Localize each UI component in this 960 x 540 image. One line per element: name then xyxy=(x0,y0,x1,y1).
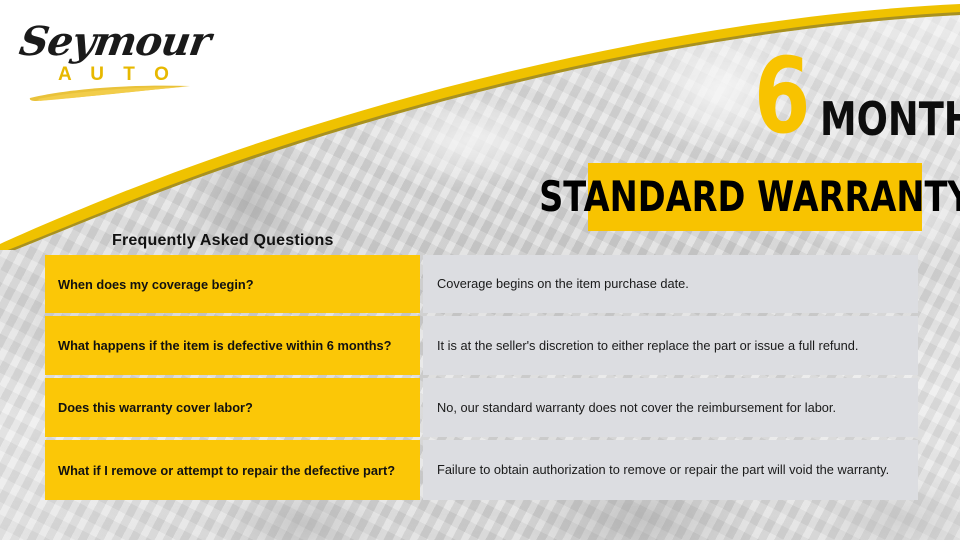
warranty-duration-block: 6 MONTH xyxy=(588,52,924,160)
logo-swoosh-icon xyxy=(12,68,197,102)
faq-answer-text: Failure to obtain authorization to remov… xyxy=(437,461,889,479)
faq-question-cell: What if I remove or attempt to repair th… xyxy=(45,440,420,500)
standard-warranty-text: STANDARD WARRANTY xyxy=(539,176,960,218)
table-row: What if I remove or attempt to repair th… xyxy=(45,440,918,500)
logo-script-text: Seymour xyxy=(16,18,213,65)
seymour-auto-logo: Seymour A U T O xyxy=(12,12,197,104)
faq-question-text: What if I remove or attempt to repair th… xyxy=(58,462,395,479)
warranty-months-number: 6 xyxy=(754,44,809,148)
faq-answer-text: Coverage begins on the item purchase dat… xyxy=(437,275,689,293)
faq-answer-cell: No, our standard warranty does not cover… xyxy=(423,378,918,437)
faq-answer-cell: Coverage begins on the item purchase dat… xyxy=(423,255,918,313)
faq-heading: Frequently Asked Questions xyxy=(112,232,334,250)
faq-question-cell: Does this warranty cover labor? xyxy=(45,378,420,437)
faq-answer-text: No, our standard warranty does not cover… xyxy=(437,399,836,417)
faq-table: When does my coverage begin? Coverage be… xyxy=(45,255,918,500)
faq-answer-cell: It is at the seller's discretion to eith… xyxy=(423,316,918,375)
faq-answer-cell: Failure to obtain authorization to remov… xyxy=(423,440,918,500)
faq-question-cell: When does my coverage begin? xyxy=(45,255,420,313)
standard-warranty-banner: STANDARD WARRANTY xyxy=(588,163,922,231)
table-row: Does this warranty cover labor? No, our … xyxy=(45,378,918,437)
faq-answer-text: It is at the seller's discretion to eith… xyxy=(437,337,858,355)
table-row: What happens if the item is defective wi… xyxy=(45,316,918,375)
warranty-months-label: MONTH xyxy=(820,96,960,142)
faq-question-text: What happens if the item is defective wi… xyxy=(58,337,391,354)
faq-question-cell: What happens if the item is defective wi… xyxy=(45,316,420,375)
slide-canvas: Seymour A U T O 6 MONTH STANDARD WARRANT… xyxy=(0,0,960,540)
faq-question-text: When does my coverage begin? xyxy=(58,276,254,293)
table-row: When does my coverage begin? Coverage be… xyxy=(45,255,918,313)
faq-question-text: Does this warranty cover labor? xyxy=(58,399,253,416)
